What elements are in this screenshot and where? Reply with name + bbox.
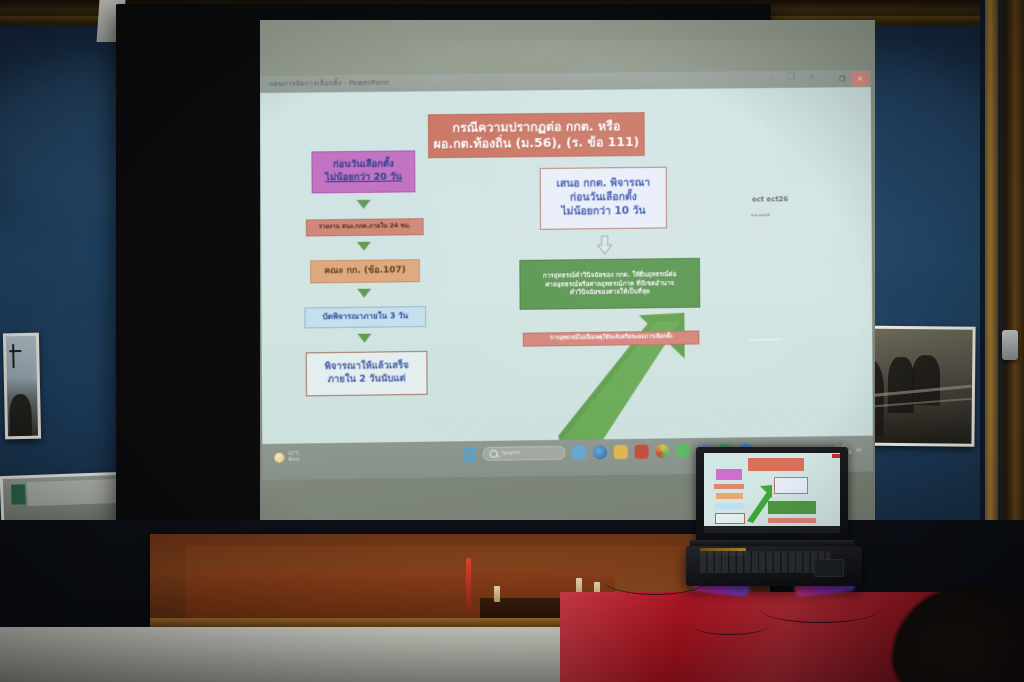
box-report-24h: รายงาน สนง.กกต.ภายใน 24 ชม.: [306, 218, 424, 236]
search-icon: [490, 450, 498, 458]
box-right-line1: เสนอ กกต. พิจารณา: [556, 177, 650, 192]
red-taper-candle: [466, 558, 471, 610]
mini-green: [768, 501, 816, 514]
box-green-line3: คำวินิจฉัยของศาลให้เป็นที่สุด: [570, 288, 650, 297]
mini-white: [715, 513, 745, 524]
mini-redthin: [768, 518, 816, 523]
chrome-browser-icon[interactable]: [655, 444, 669, 458]
box-redthin-text: การอุทธรณ์ไม่เป็นเหตุให้ระงับหรือชะลอการ…: [550, 334, 673, 343]
mini-rightbox: [774, 477, 808, 494]
wall-speaker-right: [1002, 330, 1018, 360]
slide-title-line1: กรณีความปรากฏต่อ กกต. หรือ: [452, 118, 620, 136]
laptop-screen: [704, 453, 840, 533]
laptop-slide-mirror: [704, 453, 840, 533]
edge-browser-icon[interactable]: [593, 445, 607, 459]
flow-arrow-3: [357, 289, 371, 298]
laptop-touchpad[interactable]: [814, 559, 844, 577]
mini-lightblue: [715, 503, 744, 509]
box-appeal-no-delay: การอุทธรณ์ไม่เป็นเหตุให้ระงับหรือชะลอการ…: [523, 331, 700, 347]
box-white-line1: พิจารณาให้แล้วเสร็จ: [325, 361, 409, 375]
search-placeholder: Search: [502, 450, 520, 456]
maximize-button[interactable]: ❐: [787, 73, 795, 83]
box-purple-line1: ก่อนวันเลือกตั้ง: [333, 159, 394, 172]
box-right-line3: ไม่น้อยกว่า 10 วัน: [561, 205, 645, 220]
box-orange-text: คณะ กก. (ข้อ.107): [324, 265, 406, 278]
candle-left: [494, 586, 500, 602]
box-before-election-20days: ก่อนวันเลือกตั้ง ไม่น้อยกว่า 20 วัน: [311, 150, 415, 193]
minimize-button[interactable]: –: [770, 73, 775, 83]
start-button[interactable]: [463, 448, 476, 461]
box-committee-107: คณะ กก. (ข้อ.107): [310, 259, 420, 283]
laptop-keyboard[interactable]: [700, 551, 830, 573]
box-white-line2: ภายใน 2 วันนับแต่: [328, 373, 406, 387]
box-salmon-text: รายงาน สนง.กกต.ภายใน 24 ชม.: [319, 223, 411, 232]
box-purple-line2: ไม่น้อยกว่า 20 วัน: [325, 171, 402, 184]
projected-desktop: แผนการจัดการเลือกตั้ง - PowerPoint – ❐ ✕…: [260, 70, 873, 480]
conference-room-scene: แผนการจัดการเลือกตั้ง - PowerPoint – ❐ ✕…: [0, 0, 1024, 682]
inner-restore-button[interactable]: ❐: [833, 72, 851, 86]
taskbar-weather-widget[interactable]: 22°C มีเมฆ: [274, 451, 299, 463]
watermark-small: ect ect26: [751, 213, 770, 217]
search-input[interactable]: Search: [483, 446, 566, 461]
flow-arrow-1: [357, 200, 371, 209]
sun-icon: [274, 452, 284, 462]
slide-canvas: กรณีความปรากฏต่อ กกต. หรือ ผอ.กต.ท้องถิ่…: [260, 87, 873, 444]
cable-loop: [690, 614, 770, 635]
weather-description: มีเมฆ: [288, 457, 299, 463]
slide-divider: [749, 338, 783, 340]
flow-arrow-4: [357, 334, 371, 343]
close-button[interactable]: ✕: [808, 73, 816, 83]
box-complete-2days: พิจารณาให้แล้วเสร็จ ภายใน 2 วันนับแต่: [306, 351, 428, 397]
power-cable: [600, 560, 710, 595]
mini-green-arrow: [746, 485, 772, 523]
window-title: แผนการจัดการเลือกตั้ง - PowerPoint: [269, 78, 389, 90]
hdmi-cable: [760, 596, 880, 623]
folder-icon[interactable]: [614, 445, 628, 459]
mini-close: [832, 454, 840, 458]
inner-close-button[interactable]: ✕: [851, 72, 869, 86]
mini-orange: [716, 493, 743, 499]
projection-screen-frame: แผนการจัดการเลือกตั้ง - PowerPoint – ❐ ✕…: [116, 4, 771, 534]
outer-window-controls[interactable]: – ❐ ✕: [770, 73, 816, 83]
presenter-laptop[interactable]: [686, 447, 862, 603]
hollow-down-arrow: [597, 235, 613, 255]
photo-motorcycle-street: [3, 333, 41, 440]
mini-title: [748, 458, 804, 471]
box-right-line2: ก่อนวันเลือกตั้ง: [570, 191, 637, 206]
laptop-lid: [696, 447, 848, 542]
flow-arrow-2: [357, 242, 371, 251]
file-explorer-icon[interactable]: [572, 446, 586, 460]
slide-title-box: กรณีความปรากฏต่อ กกต. หรือ ผอ.กต.ท้องถิ่…: [428, 112, 645, 158]
mini-salmon: [714, 484, 744, 489]
watermark-large: ect ect26: [752, 195, 788, 203]
slide-title-line2: ผอ.กต.ท้องถิ่น (ม.56), (ร. ข้อ 111): [434, 134, 640, 153]
mini-purple: [716, 469, 742, 480]
box-propose-ect-10days: เสนอ กกต. พิจารณา ก่อนวันเลือกตั้ง ไม่น้…: [540, 167, 667, 230]
inner-window-controls[interactable]: ❐ ✕: [833, 72, 869, 86]
box-consider-3days: บัดพิจารณาภายใน 3 วัน: [304, 306, 426, 328]
media-player-icon[interactable]: [635, 445, 649, 459]
mini-taskbar: [704, 526, 840, 533]
box-lightblue-text: บัดพิจารณาภายใน 3 วัน: [322, 311, 408, 323]
box-appeal-court: การอุทธรณ์คำวินิจฉัยของ กกต. ให้ยื่นอุทธ…: [519, 258, 700, 310]
